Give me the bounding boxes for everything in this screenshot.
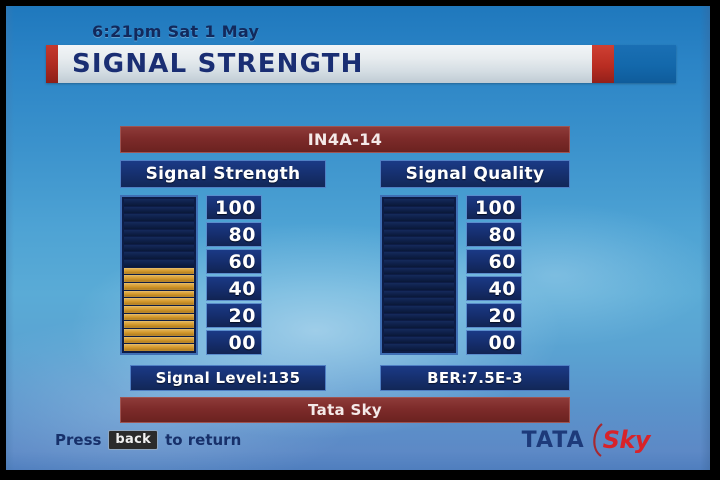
bar-segment bbox=[124, 230, 194, 237]
bar-segment bbox=[384, 321, 454, 328]
scale-label: 20 bbox=[489, 305, 516, 327]
bar-segment bbox=[384, 237, 454, 244]
meter-quality-body: 1008060402000 bbox=[380, 195, 570, 355]
scale-label: 00 bbox=[229, 332, 256, 354]
bar-segment bbox=[124, 306, 194, 313]
footer-hint: Press back to return bbox=[55, 430, 241, 450]
bar-segment bbox=[124, 245, 194, 252]
bar-segment bbox=[124, 298, 194, 305]
scale-label: 100 bbox=[215, 197, 256, 219]
bar-segment bbox=[384, 199, 454, 206]
meter-signal-quality: Signal Quality 1008060402000 bbox=[380, 160, 570, 355]
bar-segment bbox=[384, 298, 454, 305]
scale-label: 00 bbox=[489, 332, 516, 354]
letterbox-bottom bbox=[0, 470, 720, 480]
logo-text-tata: TATA bbox=[522, 428, 585, 453]
page-title: SIGNAL STRENGTH bbox=[72, 49, 364, 79]
bar-segment bbox=[384, 329, 454, 336]
meter-strength-scale: 1008060402000 bbox=[206, 195, 262, 355]
bar-segment bbox=[384, 275, 454, 282]
letterbox-left bbox=[0, 0, 6, 480]
tata-sky-logo: TATA Sky bbox=[522, 424, 650, 456]
bar-segment bbox=[124, 237, 194, 244]
scale-box: 00 bbox=[206, 330, 262, 355]
readout-ber: BER:7.5E-3 bbox=[380, 365, 570, 391]
logo-arc-icon bbox=[587, 423, 605, 457]
scale-box: 20 bbox=[206, 303, 262, 328]
letterbox-right bbox=[710, 0, 720, 480]
meter-strength-segments bbox=[124, 199, 194, 351]
bar-segment bbox=[124, 329, 194, 336]
meter-quality-title: Signal Quality bbox=[406, 164, 545, 184]
scale-box: 100 bbox=[466, 195, 522, 220]
title-panel: SIGNAL STRENGTH bbox=[58, 45, 592, 83]
scale-box: 20 bbox=[466, 303, 522, 328]
hint-prefix: Press bbox=[55, 431, 101, 449]
bar-segment bbox=[384, 314, 454, 321]
meter-strength-header: Signal Strength bbox=[120, 160, 326, 188]
bar-segment bbox=[124, 214, 194, 221]
bar-segment bbox=[384, 260, 454, 267]
title-accent-left bbox=[46, 45, 58, 83]
scale-label: 100 bbox=[475, 197, 516, 219]
bar-segment bbox=[384, 291, 454, 298]
meter-signal-strength: Signal Strength 1008060402000 bbox=[120, 160, 326, 355]
title-tail-block bbox=[614, 45, 676, 83]
tv-screen: 6:21pm Sat 1 May SIGNAL STRENGTH IN4A-14… bbox=[0, 0, 720, 480]
meter-strength-bar bbox=[120, 195, 198, 355]
bar-segment bbox=[384, 230, 454, 237]
scale-box: 100 bbox=[206, 195, 262, 220]
logo-text-sky: Sky bbox=[603, 426, 650, 454]
meter-quality-segments bbox=[384, 199, 454, 351]
title-bar: SIGNAL STRENGTH bbox=[46, 45, 676, 83]
bar-segment bbox=[124, 283, 194, 290]
scale-box: 80 bbox=[466, 222, 522, 247]
bar-segment bbox=[124, 260, 194, 267]
bar-segment bbox=[384, 306, 454, 313]
provider-banner: Tata Sky bbox=[120, 397, 570, 423]
bar-segment bbox=[124, 337, 194, 344]
bar-segment bbox=[124, 222, 194, 229]
bar-segment bbox=[124, 207, 194, 214]
bar-segment bbox=[384, 245, 454, 252]
scale-label: 60 bbox=[489, 251, 516, 273]
bar-segment bbox=[124, 275, 194, 282]
bar-segment bbox=[384, 207, 454, 214]
meter-quality-scale: 1008060402000 bbox=[466, 195, 522, 355]
signal-level-value: Signal Level:135 bbox=[156, 369, 301, 387]
meter-strength-body: 1008060402000 bbox=[120, 195, 326, 355]
bar-segment bbox=[124, 252, 194, 259]
bar-segment bbox=[384, 268, 454, 275]
scale-label: 60 bbox=[229, 251, 256, 273]
scale-box: 60 bbox=[466, 249, 522, 274]
bar-segment bbox=[124, 321, 194, 328]
bar-segment bbox=[124, 344, 194, 351]
scale-box: 60 bbox=[206, 249, 262, 274]
bar-segment bbox=[384, 252, 454, 259]
bar-segment bbox=[124, 291, 194, 298]
scale-label: 80 bbox=[489, 224, 516, 246]
hint-suffix: to return bbox=[165, 431, 241, 449]
bar-segment bbox=[124, 268, 194, 275]
meter-quality-bar bbox=[380, 195, 458, 355]
bar-segment bbox=[384, 283, 454, 290]
bar-segment bbox=[384, 337, 454, 344]
clock: 6:21pm Sat 1 May bbox=[92, 22, 259, 41]
scale-label: 80 bbox=[229, 224, 256, 246]
scale-box: 80 bbox=[206, 222, 262, 247]
bar-segment bbox=[124, 199, 194, 206]
scale-box: 40 bbox=[206, 276, 262, 301]
title-accent-right bbox=[592, 45, 614, 83]
scale-label: 40 bbox=[229, 278, 256, 300]
scale-box: 40 bbox=[466, 276, 522, 301]
scale-label: 40 bbox=[489, 278, 516, 300]
letterbox-top bbox=[0, 0, 720, 6]
bar-segment bbox=[384, 344, 454, 351]
transponder-banner: IN4A-14 bbox=[120, 126, 570, 153]
meter-strength-title: Signal Strength bbox=[146, 164, 301, 184]
ber-value: BER:7.5E-3 bbox=[427, 369, 523, 387]
scale-label: 20 bbox=[229, 305, 256, 327]
meter-quality-header: Signal Quality bbox=[380, 160, 570, 188]
bar-segment bbox=[384, 214, 454, 221]
bar-segment bbox=[384, 222, 454, 229]
provider-name: Tata Sky bbox=[308, 401, 382, 419]
bar-segment bbox=[124, 314, 194, 321]
back-key-button[interactable]: back bbox=[108, 430, 158, 450]
scale-box: 00 bbox=[466, 330, 522, 355]
readout-signal-level: Signal Level:135 bbox=[130, 365, 326, 391]
transponder-label: IN4A-14 bbox=[308, 130, 383, 149]
